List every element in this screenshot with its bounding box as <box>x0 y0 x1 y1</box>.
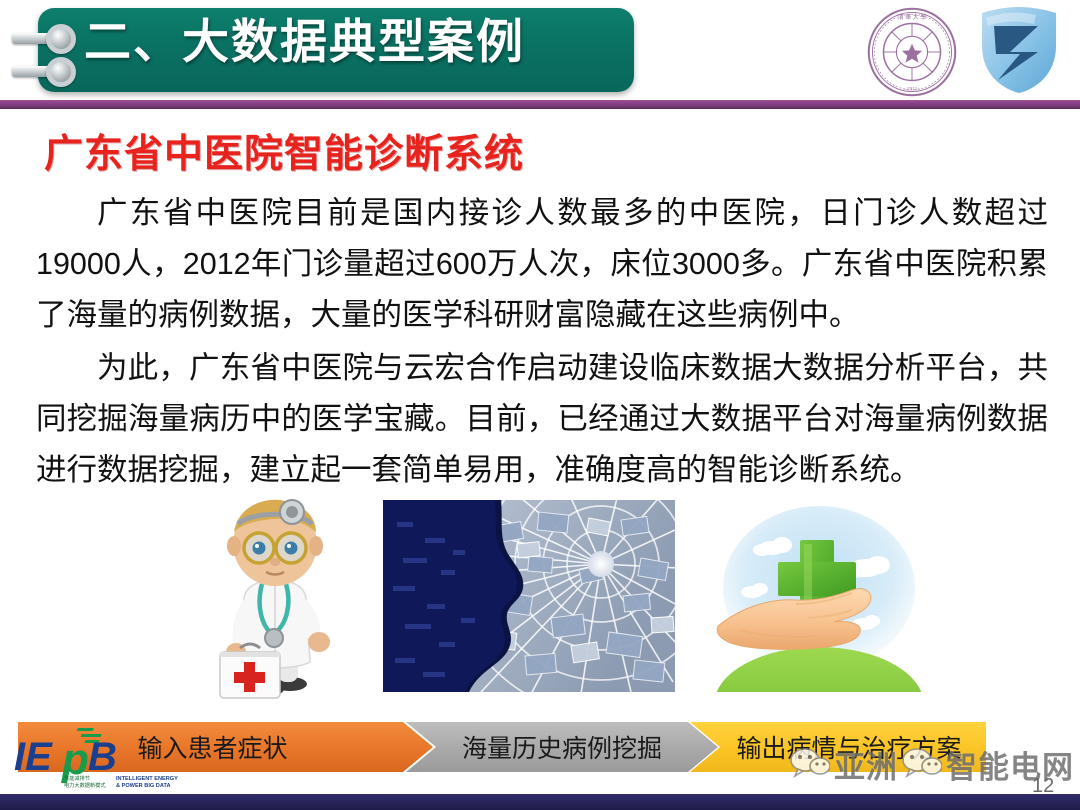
footer-bar <box>0 794 1080 810</box>
iepb-tagline-cn-2: 电力大数据新模式 <box>64 781 106 789</box>
paragraph-1: 广东省中医院目前是国内接诊人数最多的中医院，日门诊人数超过19000人，2012… <box>36 188 1048 341</box>
paragraph-2: 为此，广东省中医院与云宏合作启动建设临床数据大数据分析平台，共同挖掘海量病历中的… <box>36 343 1048 496</box>
tsinghua-university-seal-icon: 清 華 大 學 ~1911~ <box>866 6 958 98</box>
header-divider <box>0 100 1080 109</box>
binder-ring-top-icon <box>46 24 76 54</box>
hand-green-cross-image <box>700 500 938 692</box>
process-step-mining-label: 海量历史病例挖掘 <box>462 729 662 765</box>
blue-shield-logo-icon <box>976 4 1062 96</box>
section-title: 二、大数据典型案例 <box>84 10 604 74</box>
svg-text:~1911~: ~1911~ <box>904 87 921 93</box>
svg-text:IE: IE <box>14 735 53 779</box>
page-title: 广东省中医院智能诊断系统 <box>44 123 524 179</box>
iepb-logo: IE p B 节能减排节 电力大数据新模式 INTELLIGENT ENERGY… <box>10 722 200 792</box>
body-content: 广东省中医院目前是国内接诊人数最多的中医院，日门诊人数超过19000人，2012… <box>36 188 1048 498</box>
big-data-brain-image <box>383 500 675 692</box>
process-step-mining[interactable]: 海量历史病例挖掘 <box>406 722 718 772</box>
slide-root: 二、大数据典型案例 清 華 <box>0 0 1080 810</box>
iepb-tagline-en-1: INTELLIGENT ENERGY <box>116 776 178 782</box>
svg-text:B: B <box>88 735 117 779</box>
process-step-output[interactable]: 输出病情与治疗方案 <box>690 722 986 772</box>
svg-text:清 華 大 學: 清 華 大 學 <box>898 13 926 21</box>
slide-header: 二、大数据典型案例 清 華 <box>0 0 1080 104</box>
process-step-output-label: 输出病情与治疗方案 <box>736 729 961 765</box>
binder-ring-bottom-icon <box>46 57 76 87</box>
iepb-tagline-cn-1: 节能减排节 <box>64 774 90 782</box>
iepb-tagline-en-2: & POWER BIG DATA <box>116 783 170 789</box>
cartoon-doctor-image <box>186 492 364 704</box>
